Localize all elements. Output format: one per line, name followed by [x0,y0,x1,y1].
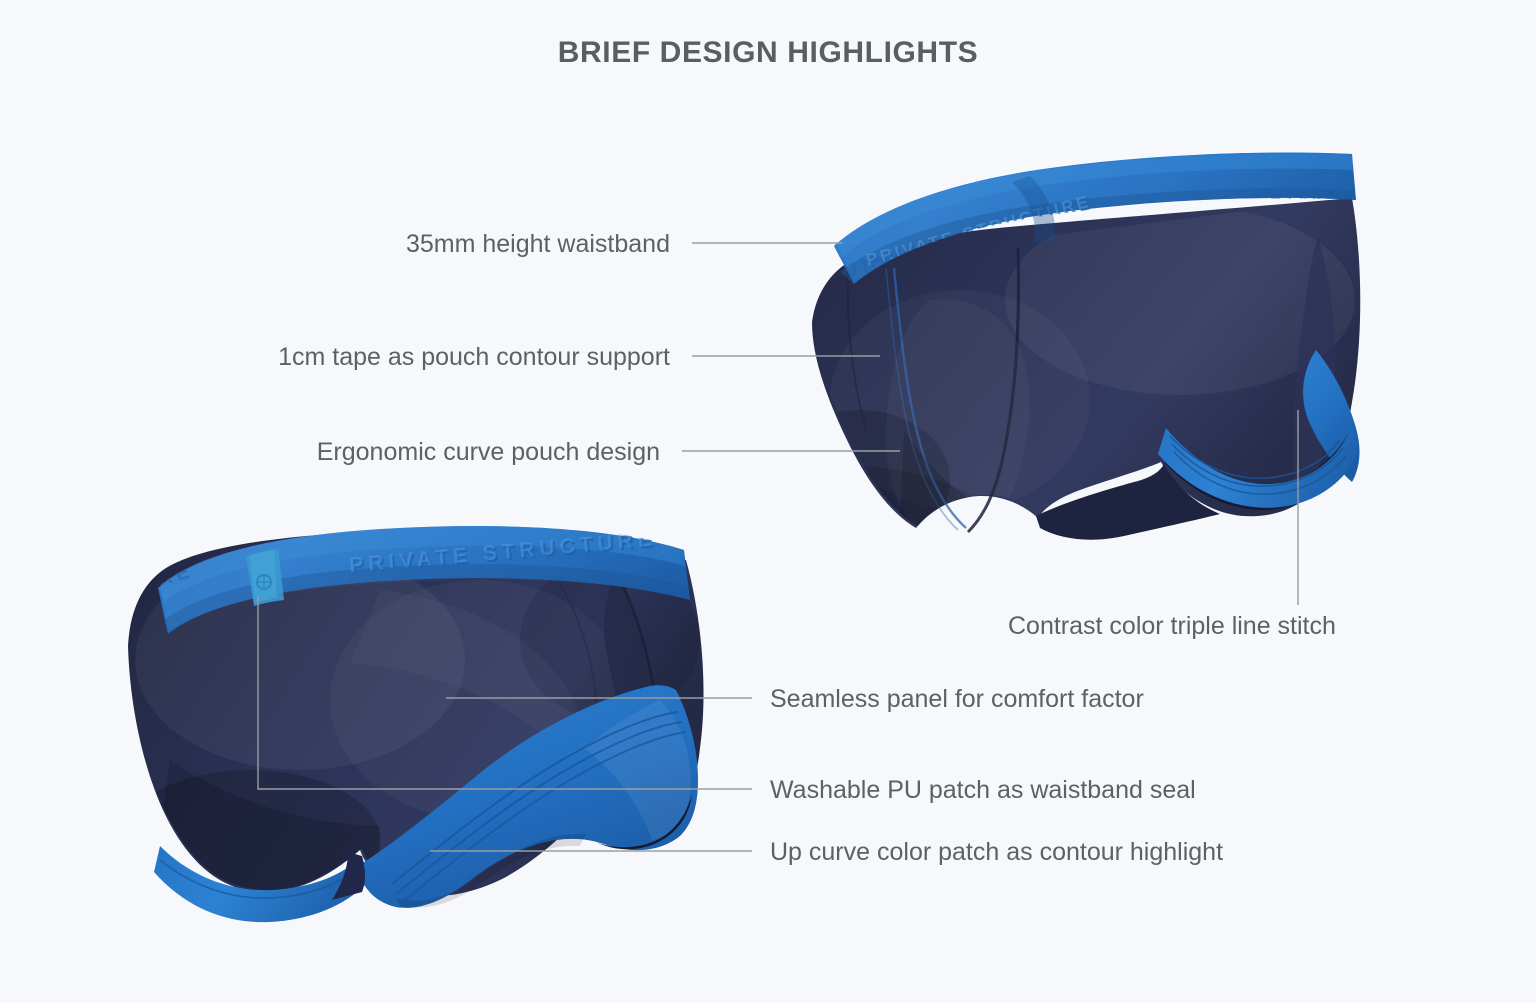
annotation-label-pu-patch: Washable PU patch as waistband seal [770,778,1196,803]
pu-patch-logo-mark [257,575,271,589]
infographic-canvas: BRIEF DESIGN HIGHLIGHTS [0,0,1536,1003]
annotation-label-pouch-design: Ergonomic curve pouch design [317,440,660,465]
annotation-label-waistband-height: 35mm height waistband [406,232,670,257]
product-illustration-layer: PRIVATE STRUCTURE PRIVATE STRUCTURE PRIV… [0,0,1536,1003]
annotation-label-up-curve-patch: Up curve color patch as contour highligh… [770,840,1223,865]
product-rear-view: PRIVATE STRUCTURE PRIVATE STRUCTURE RE [120,520,710,922]
annotation-label-triple-stitch: Contrast color triple line stitch [1008,614,1336,639]
annotation-label-pouch-tape: 1cm tape as pouch contour support [278,345,670,370]
product-front-view: PRIVATE STRUCTURE PRIVATE STRUCTURE PRIV… [770,150,1360,560]
annotation-label-seamless-panel: Seamless panel for comfort factor [770,687,1144,712]
